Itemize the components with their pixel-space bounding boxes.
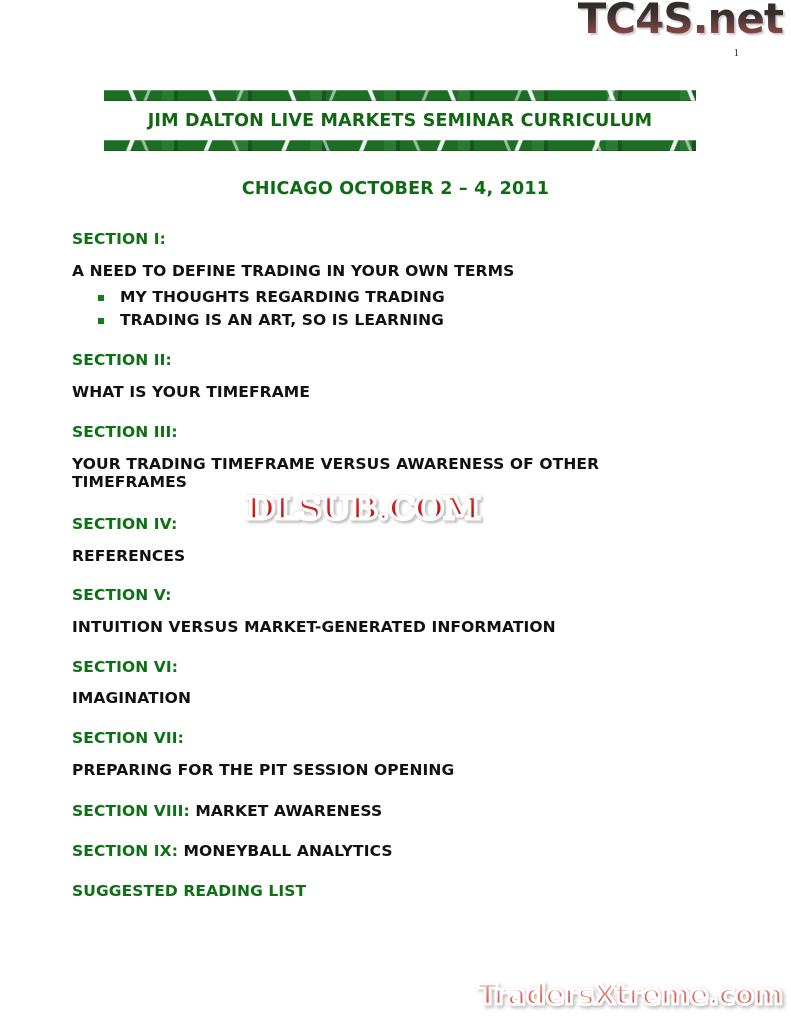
section-body-3: YOUR TRADING TIMEFRAME VERSUS AWARENESS …	[72, 455, 694, 492]
tc4s-logo-watermark: TC4S.net	[578, 0, 783, 40]
section-heading-9-label: SECTION IX:	[72, 842, 178, 860]
section-heading-1: SECTION I:	[72, 231, 697, 249]
reading-list-block: SUGGESTED READING LIST	[72, 883, 697, 901]
page-title: JIM DALTON LIVE MARKETS SEMINAR CURRICUL…	[104, 101, 696, 140]
list-item: TRADING IS AN ART, SO IS LEARNING	[98, 309, 697, 331]
section-block-2: SECTION II: WHAT IS YOUR TIMEFRAME	[72, 352, 697, 401]
list-item-label: TRADING IS AN ART, SO IS LEARNING	[120, 311, 444, 329]
dlsub-watermark: DLSUB.COM	[246, 494, 480, 525]
document-page: TC4S.net TC4S.net 1 JIM DALTON LIVE MARK…	[0, 0, 791, 1024]
section-block-8: SECTION VIII: MARKET AWARENESS	[72, 803, 697, 821]
banner-bar-top	[104, 90, 696, 101]
section-block-5: SECTION V: INTUITION VERSUS MARKET-GENER…	[72, 587, 697, 636]
curriculum-content: SECTION I: A NEED TO DEFINE TRADING IN Y…	[72, 231, 697, 922]
section-block-9: SECTION IX: MONEYBALL ANALYTICS	[72, 843, 697, 861]
subtitle-date-location: CHICAGO OCTOBER 2 – 4, 2011	[0, 179, 791, 199]
title-banner: JIM DALTON LIVE MARKETS SEMINAR CURRICUL…	[104, 90, 696, 151]
section-heading-6: SECTION VI:	[72, 659, 697, 677]
section-heading-3: SECTION III:	[72, 424, 697, 442]
section-heading-8-label: SECTION VIII:	[72, 802, 190, 820]
section-body-2: WHAT IS YOUR TIMEFRAME	[72, 383, 697, 402]
section-block-7: SECTION VII: PREPARING FOR THE PIT SESSI…	[72, 730, 697, 779]
section-body-1: A NEED TO DEFINE TRADING IN YOUR OWN TER…	[72, 262, 697, 281]
section-heading-5: SECTION V:	[72, 587, 697, 605]
section-body-6: IMAGINATION	[72, 689, 697, 708]
section-heading-2: SECTION II:	[72, 352, 697, 370]
section-block-6: SECTION VI: IMAGINATION	[72, 659, 697, 708]
section-body-5: INTUITION VERSUS MARKET-GENERATED INFORM…	[72, 618, 697, 637]
section-heading-7: SECTION VII:	[72, 730, 697, 748]
section-heading-8: SECTION VIII: MARKET AWARENESS	[72, 803, 697, 821]
section-body-4: REFERENCES	[72, 547, 697, 566]
list-item-label: MY THOUGHTS REGARDING TRADING	[120, 288, 445, 306]
section-1-bullet-list: MY THOUGHTS REGARDING TRADING TRADING IS…	[72, 286, 697, 331]
page-number: 1	[734, 47, 740, 59]
reading-list-heading: SUGGESTED READING LIST	[72, 883, 697, 901]
banner-bar-bottom	[104, 140, 696, 151]
section-body-8: MARKET AWARENESS	[195, 802, 382, 820]
section-heading-9: SECTION IX: MONEYBALL ANALYTICS	[72, 843, 697, 861]
section-body-9: MONEYBALL ANALYTICS	[184, 842, 393, 860]
section-body-7: PREPARING FOR THE PIT SESSION OPENING	[72, 761, 697, 780]
square-bullet-icon	[98, 295, 104, 301]
section-block-3: SECTION III: YOUR TRADING TIMEFRAME VERS…	[72, 424, 697, 492]
list-item: MY THOUGHTS REGARDING TRADING	[98, 286, 697, 308]
section-block-1: SECTION I: A NEED TO DEFINE TRADING IN Y…	[72, 231, 697, 331]
tradersxtreme-watermark: TradersXtreme.com	[478, 981, 783, 1009]
square-bullet-icon	[98, 318, 104, 324]
